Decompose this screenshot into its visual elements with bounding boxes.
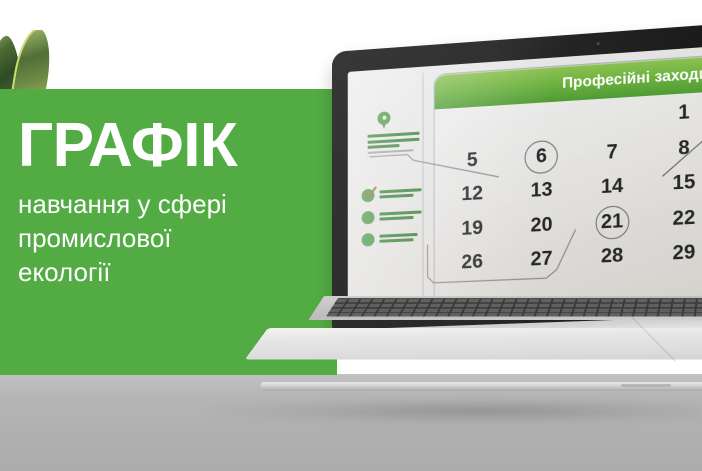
palmrest bbox=[245, 328, 702, 360]
list-item[interactable] bbox=[362, 208, 424, 224]
front-notch bbox=[620, 384, 671, 387]
calendar-day-label: 22 bbox=[673, 207, 696, 230]
laptop-device: Професійні заходи та навчання 1234567891… bbox=[228, 0, 702, 420]
calendar-day-label: 28 bbox=[601, 245, 623, 268]
calendar-day-26[interactable]: 26 bbox=[443, 250, 502, 275]
laptop-front-edge bbox=[259, 382, 702, 391]
list-item-lines bbox=[379, 186, 423, 200]
plant-leaf-edge bbox=[11, 30, 56, 92]
calendar-day-label: 5 bbox=[467, 149, 478, 171]
calendar-day-8[interactable]: 8 bbox=[653, 135, 702, 162]
location-block[interactable] bbox=[368, 109, 422, 156]
list-item-lines bbox=[379, 231, 423, 245]
calendar-day-19[interactable]: 19 bbox=[443, 216, 502, 241]
calendar-day-label: 21 bbox=[601, 210, 623, 233]
calendar-day-label: 26 bbox=[461, 251, 483, 273]
calendar-day-29[interactable]: 29 bbox=[653, 241, 702, 267]
laptop-lid: Професійні заходи та навчання 1234567891… bbox=[332, 6, 702, 330]
keyboard[interactable] bbox=[326, 298, 702, 317]
screen-ui: Професійні заходи та навчання 1234567891… bbox=[348, 29, 702, 316]
calendar-day-5[interactable]: 5 bbox=[443, 148, 502, 174]
calendar-day-empty bbox=[443, 113, 502, 139]
laptop-base bbox=[228, 296, 702, 386]
screen-sidebar bbox=[348, 67, 422, 317]
calendar-day-label: 7 bbox=[606, 141, 617, 163]
calendar-day-27[interactable]: 27 bbox=[512, 247, 572, 272]
calendar-day-28[interactable]: 28 bbox=[582, 244, 643, 269]
calendar-day-20[interactable]: 20 bbox=[512, 213, 572, 239]
check-circle-icon bbox=[362, 189, 375, 203]
list-item-lines bbox=[379, 208, 423, 222]
snake-plant-leaves-icon bbox=[0, 30, 80, 92]
calendar-day-21[interactable]: 21 bbox=[582, 209, 643, 235]
circle-icon bbox=[362, 211, 375, 225]
calendar-day-label: 13 bbox=[531, 179, 553, 202]
location-text-lines bbox=[368, 132, 422, 154]
calendar-day-empty bbox=[512, 109, 572, 135]
calendar-day-15[interactable]: 15 bbox=[653, 170, 702, 196]
calendar-grid: 1234567891011121314151617181920212223242… bbox=[443, 86, 702, 287]
calendar-day-label: 1 bbox=[678, 102, 689, 125]
calendar-day-label: 8 bbox=[678, 137, 689, 160]
checkmark-icon bbox=[364, 187, 377, 201]
checklist bbox=[362, 186, 424, 256]
calendar-day-22[interactable]: 22 bbox=[653, 206, 702, 232]
calendar-day-7[interactable]: 7 bbox=[582, 139, 643, 165]
calendar-day-12[interactable]: 12 bbox=[443, 182, 502, 208]
calendar-day-1[interactable]: 1 bbox=[653, 100, 702, 127]
poster-canvas: ГРАФІК навчання у сфері промислової екол… bbox=[0, 0, 702, 471]
calendar-header-label: Професійні заходи та навчання bbox=[562, 59, 702, 92]
calendar-day-6[interactable]: 6 bbox=[512, 144, 572, 170]
calendar-day-label: 29 bbox=[673, 242, 696, 265]
calendar-day-label: 6 bbox=[536, 145, 547, 167]
calendar-day-label: 20 bbox=[531, 214, 553, 237]
calendar-day-14[interactable]: 14 bbox=[582, 174, 643, 200]
calendar-day-13[interactable]: 13 bbox=[512, 178, 572, 204]
calendar-day-label: 15 bbox=[673, 171, 696, 194]
location-pin-icon bbox=[378, 111, 391, 129]
calendar-day-label: 27 bbox=[531, 248, 553, 271]
calendar-day-empty bbox=[582, 104, 643, 131]
list-item[interactable] bbox=[362, 186, 424, 202]
calendar-day-label: 19 bbox=[461, 217, 483, 239]
circle-icon bbox=[362, 233, 375, 247]
calendar-day-label: 14 bbox=[601, 175, 623, 198]
calendar-day-label: 12 bbox=[461, 183, 483, 206]
list-item[interactable] bbox=[362, 231, 424, 247]
calendar-card: Професійні заходи та навчання 1234567891… bbox=[434, 39, 702, 308]
laptop-screen: Професійні заходи та навчання 1234567891… bbox=[348, 29, 702, 316]
